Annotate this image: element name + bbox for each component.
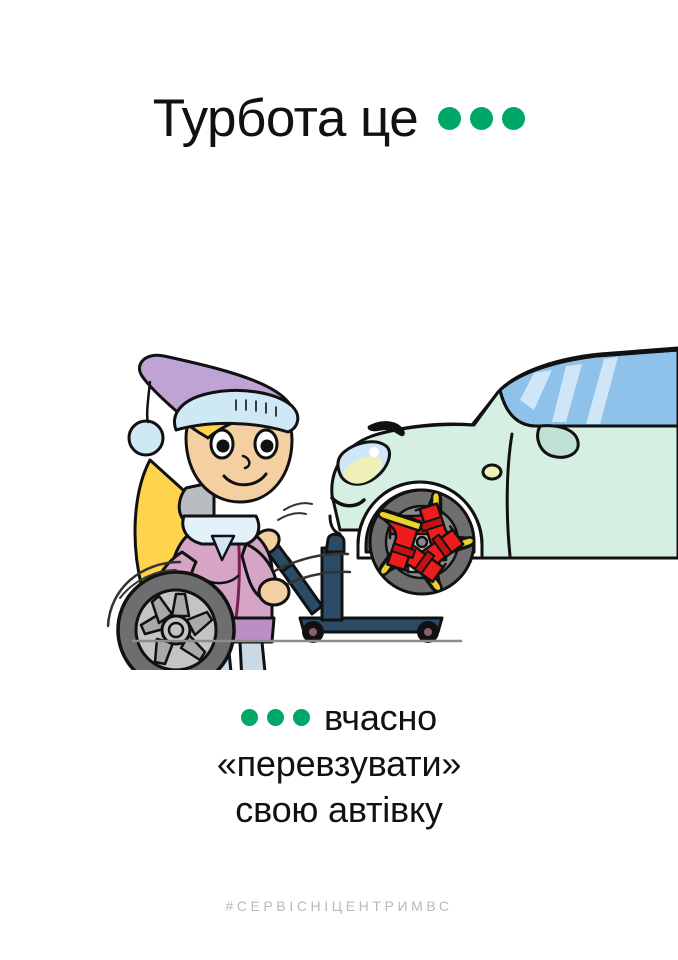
green-dot-icon	[267, 709, 284, 726]
green-dot-icon	[293, 709, 310, 726]
caption-dots-group	[241, 709, 310, 726]
car-door-handle	[483, 465, 501, 479]
caption-line-1: вчасно	[324, 695, 437, 741]
illustration	[0, 330, 678, 670]
girl-leg-right	[240, 642, 266, 670]
poster-root: Турбота це	[0, 0, 678, 960]
caption-line-3: свою автівку	[0, 787, 678, 833]
jack-lift-arm	[326, 534, 344, 552]
caption-line-2: «перевзувати»	[0, 741, 678, 787]
green-dot-icon	[241, 709, 258, 726]
green-dot-icon	[438, 107, 461, 130]
jack-mast	[322, 548, 342, 620]
caption-block: вчасно «перевзувати» свою автівку	[0, 695, 678, 833]
girl-hat-pompom	[129, 421, 163, 455]
caption-line-1-row: вчасно	[0, 695, 678, 741]
hashtag-footer: #СЕРВІСНІЦЕНТРИМВС	[0, 898, 678, 914]
headline-text: Турбота це	[153, 92, 419, 145]
page-title: Турбота це	[0, 92, 678, 145]
girl-hand-right	[259, 579, 289, 605]
green-dot-icon	[502, 107, 525, 130]
illustration-svg	[0, 330, 678, 670]
headline-dots-group	[438, 107, 525, 130]
green-dot-icon	[470, 107, 493, 130]
